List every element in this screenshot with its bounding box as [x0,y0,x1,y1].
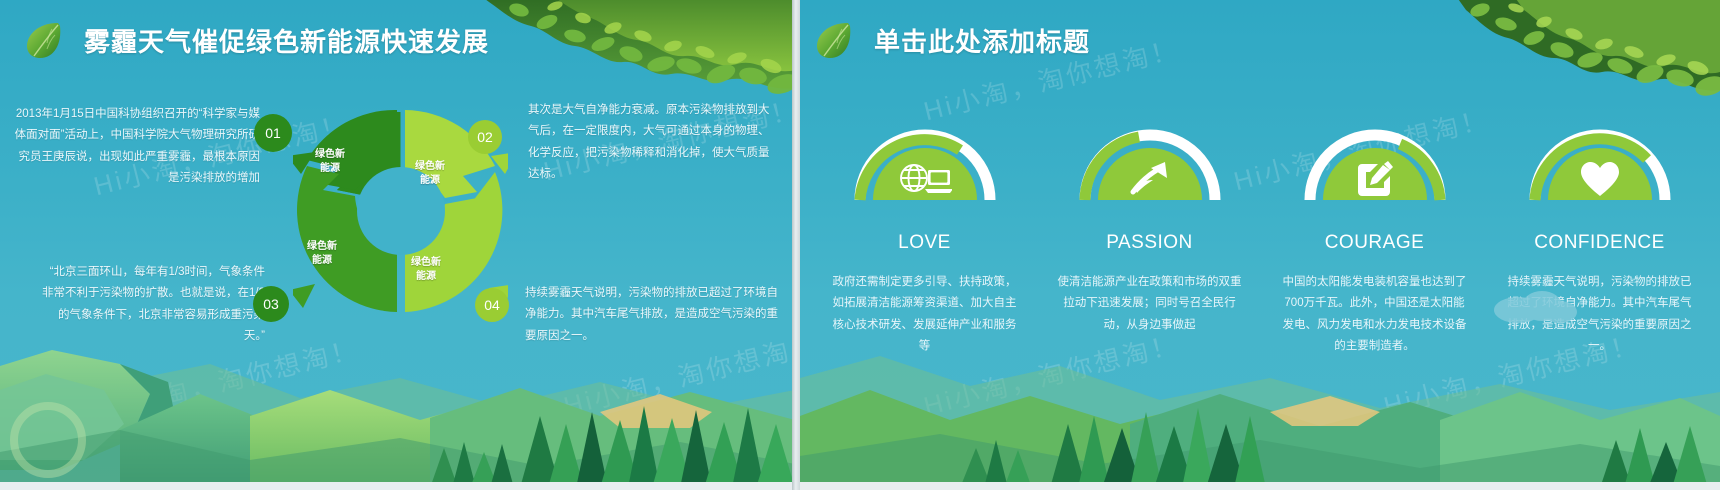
cycle-segment-1-label: 绿色新 能源 [315,148,345,175]
slide-bottom-bar [800,482,1720,490]
gauge-label: PASSION [1106,232,1193,254]
foliage-decoration-left [465,0,795,101]
gauge-description: 政府还需制定更多引导、扶持政策，如拓展清洁能源筹资渠道、加大自主核心技术研发、发… [832,272,1018,357]
gauge-item-confidence: CONFIDENCE 持续雾霾天气说明，污染物的排放已超过了环境自净能力。其中汽… [1487,126,1712,357]
gauge-description: 持续雾霾天气说明，污染物的排放已超过了环境自净能力。其中汽车尾气排放，是造成空气… [1507,272,1693,357]
cycle-segment-3-label: 绿色新 能源 [307,240,337,267]
paragraph-4: 持续雾霾天气说明，污染物的排放已超过了环境自净能力。其中汽车尾气排放，是造成空气… [525,283,780,347]
page-title: 单击此处添加标题 [874,22,1090,59]
slide-bottom-bar [0,482,795,490]
gauge-label: COURAGE [1325,232,1425,254]
slide-divider [792,0,800,490]
cycle-bubble-01[interactable]: 01 [254,114,292,152]
paragraph-3: “北京三面环山，每年有1/3时间，气象条件非常不利于污染物的扩散。也就是说，在1… [40,262,265,347]
cycle-bubble-02[interactable]: 02 [468,120,502,154]
cycle-segment-4-label: 绿色新 能源 [411,256,441,283]
gauge-description: 中国的太阳能发电装机容量也达到了700万千瓦。此外，中国还是太阳能发电、风力发电… [1282,272,1468,357]
gauge-passion [1079,126,1221,204]
cycle-segment-2-label: 绿色新 能源 [415,160,445,187]
slide-left-header: 雾霾天气催促绿色新能源快速发展 [22,18,489,62]
slide-right-header: 单击此处添加标题 [812,18,1090,62]
slide-right: 单击此处添加标题 Hi小淘，淘你想淘！ Hi小淘，淘你想淘！ Hi小淘，淘你想淘… [800,0,1720,490]
gauge-label: LOVE [898,232,951,254]
gauge-label: CONFIDENCE [1534,232,1665,254]
paragraph-1: 2013年1月15日中国科协组织召开的“科学家与媒体面对面”活动上，中国科学院大… [10,104,260,189]
gauge-item-passion: PASSION 使清洁能源产业在政策和市场的双重拉动下迅速发展；同时号召全民行动… [1037,126,1262,357]
gauge-item-courage: COURAGE 中国的太阳能发电装机容量也达到了700万千瓦。此外，中国还是太阳… [1262,126,1487,357]
cycle-bubble-03[interactable]: 03 [253,286,289,322]
foliage-decoration-right [1420,0,1720,101]
slide-left: 雾霾天气催促绿色新能源快速发展 Hi小淘，淘你想淘！ Hi小淘，淘你想淘！ Hi… [0,0,795,490]
gauge-item-love: LOVE 政府还需制定更多引导、扶持政策，如拓展清洁能源筹资渠道、加大自主核心技… [812,126,1037,357]
gauge-courage [1304,126,1446,204]
gauge-group: LOVE 政府还需制定更多引导、扶持政策，如拓展清洁能源筹资渠道、加大自主核心技… [812,126,1712,357]
gauge-love [854,126,996,204]
gauge-description: 使清洁能源产业在政策和市场的双重拉动下迅速发展；同时号召全民行动，从身边事做起 [1057,272,1243,336]
gauge-confidence [1529,126,1671,204]
leaf-icon [812,18,856,62]
page-title: 雾霾天气催促绿色新能源快速发展 [84,22,489,59]
leaf-icon [22,18,66,62]
paragraph-2: 其次是大气自净能力衰减。原本污染物排放到大气后，在一定限度内，大气可通过本身的物… [528,100,778,185]
cycle-bubble-04[interactable]: 04 [475,288,509,322]
presentation-stage: 雾霾天气催促绿色新能源快速发展 Hi小淘，淘你想淘！ Hi小淘，淘你想淘！ Hi… [0,0,1720,490]
